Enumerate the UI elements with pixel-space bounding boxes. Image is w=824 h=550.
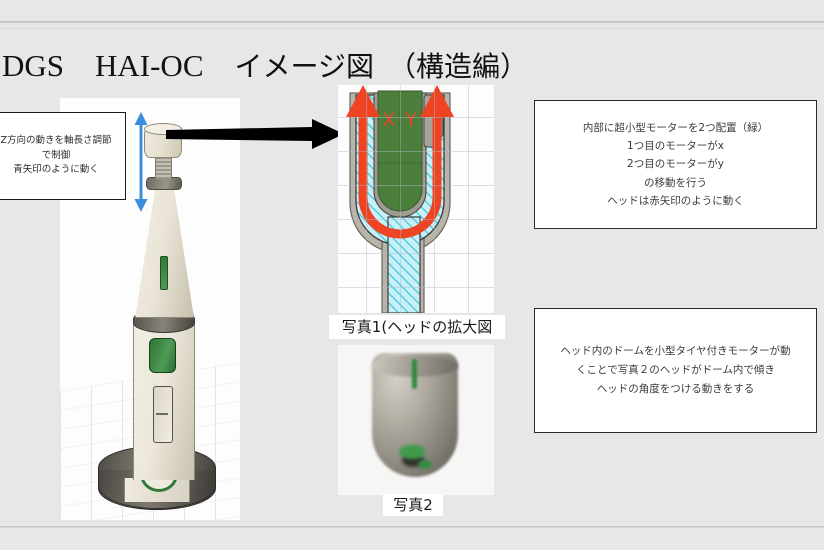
- photo2-panel: [338, 345, 494, 495]
- page-title: DGS HAI-OC イメージ図 （構造編）: [2, 44, 562, 88]
- device-slot: [153, 386, 173, 443]
- title-japanese-text: イメージ図 （構造編）: [235, 50, 528, 83]
- right-callout-top-text: 内部に超小型モーターを2つ配置（緑） 1つ目のモーターがx 2つ目のモーターがy…: [573, 119, 778, 209]
- device-green-button: [149, 338, 176, 373]
- dome-green-stripe: [412, 359, 417, 389]
- device-slot-divider: [156, 413, 168, 415]
- dome-green-tip: [418, 460, 432, 469]
- right-callout-box-bottom: ヘッド内のドームを小型タイヤ付きモーターが動 くことで写真２のヘッドがドーム内で…: [534, 308, 817, 433]
- photo2-caption: 写真2: [383, 494, 443, 516]
- left-callout-text: Z方向の動きを軸長さ調節 で制御 青矢印のように動く: [0, 134, 116, 178]
- right-callout-box-top: 内部に超小型モーターを2つ配置（緑） 1つ目のモーターがx 2つ目のモーターがy…: [534, 100, 817, 229]
- photo1-caption: 写真1(ヘッドの拡大図: [329, 315, 505, 339]
- dome-green-tire: [399, 445, 425, 459]
- z-axis-double-arrow-icon: [132, 112, 150, 212]
- device-cone-green-indicator: [160, 256, 168, 290]
- dome-head-photo: [372, 353, 458, 477]
- top-divider: [0, 21, 824, 23]
- title-latin-text: DGS HAI-OC: [2, 48, 235, 83]
- left-callout-box: Z方向の動きを軸長さ調節 で制御 青矢印のように動く: [0, 112, 126, 200]
- head-cross-section-panel: X Y: [338, 85, 494, 313]
- right-callout-bottom-text: ヘッド内のドームを小型タイヤ付きモーターが動 くことで写真２のヘッドがドーム内で…: [550, 342, 800, 399]
- slide-canvas: DGS HAI-OC イメージ図 （構造編） Z方向の動きを軸長さ調節 で制御 …: [0, 0, 824, 550]
- top-divider-secondary: [0, 28, 824, 29]
- head-diagram-grid: [338, 85, 494, 313]
- pointer-arrow-icon: [166, 118, 344, 150]
- bottom-divider: [0, 526, 824, 528]
